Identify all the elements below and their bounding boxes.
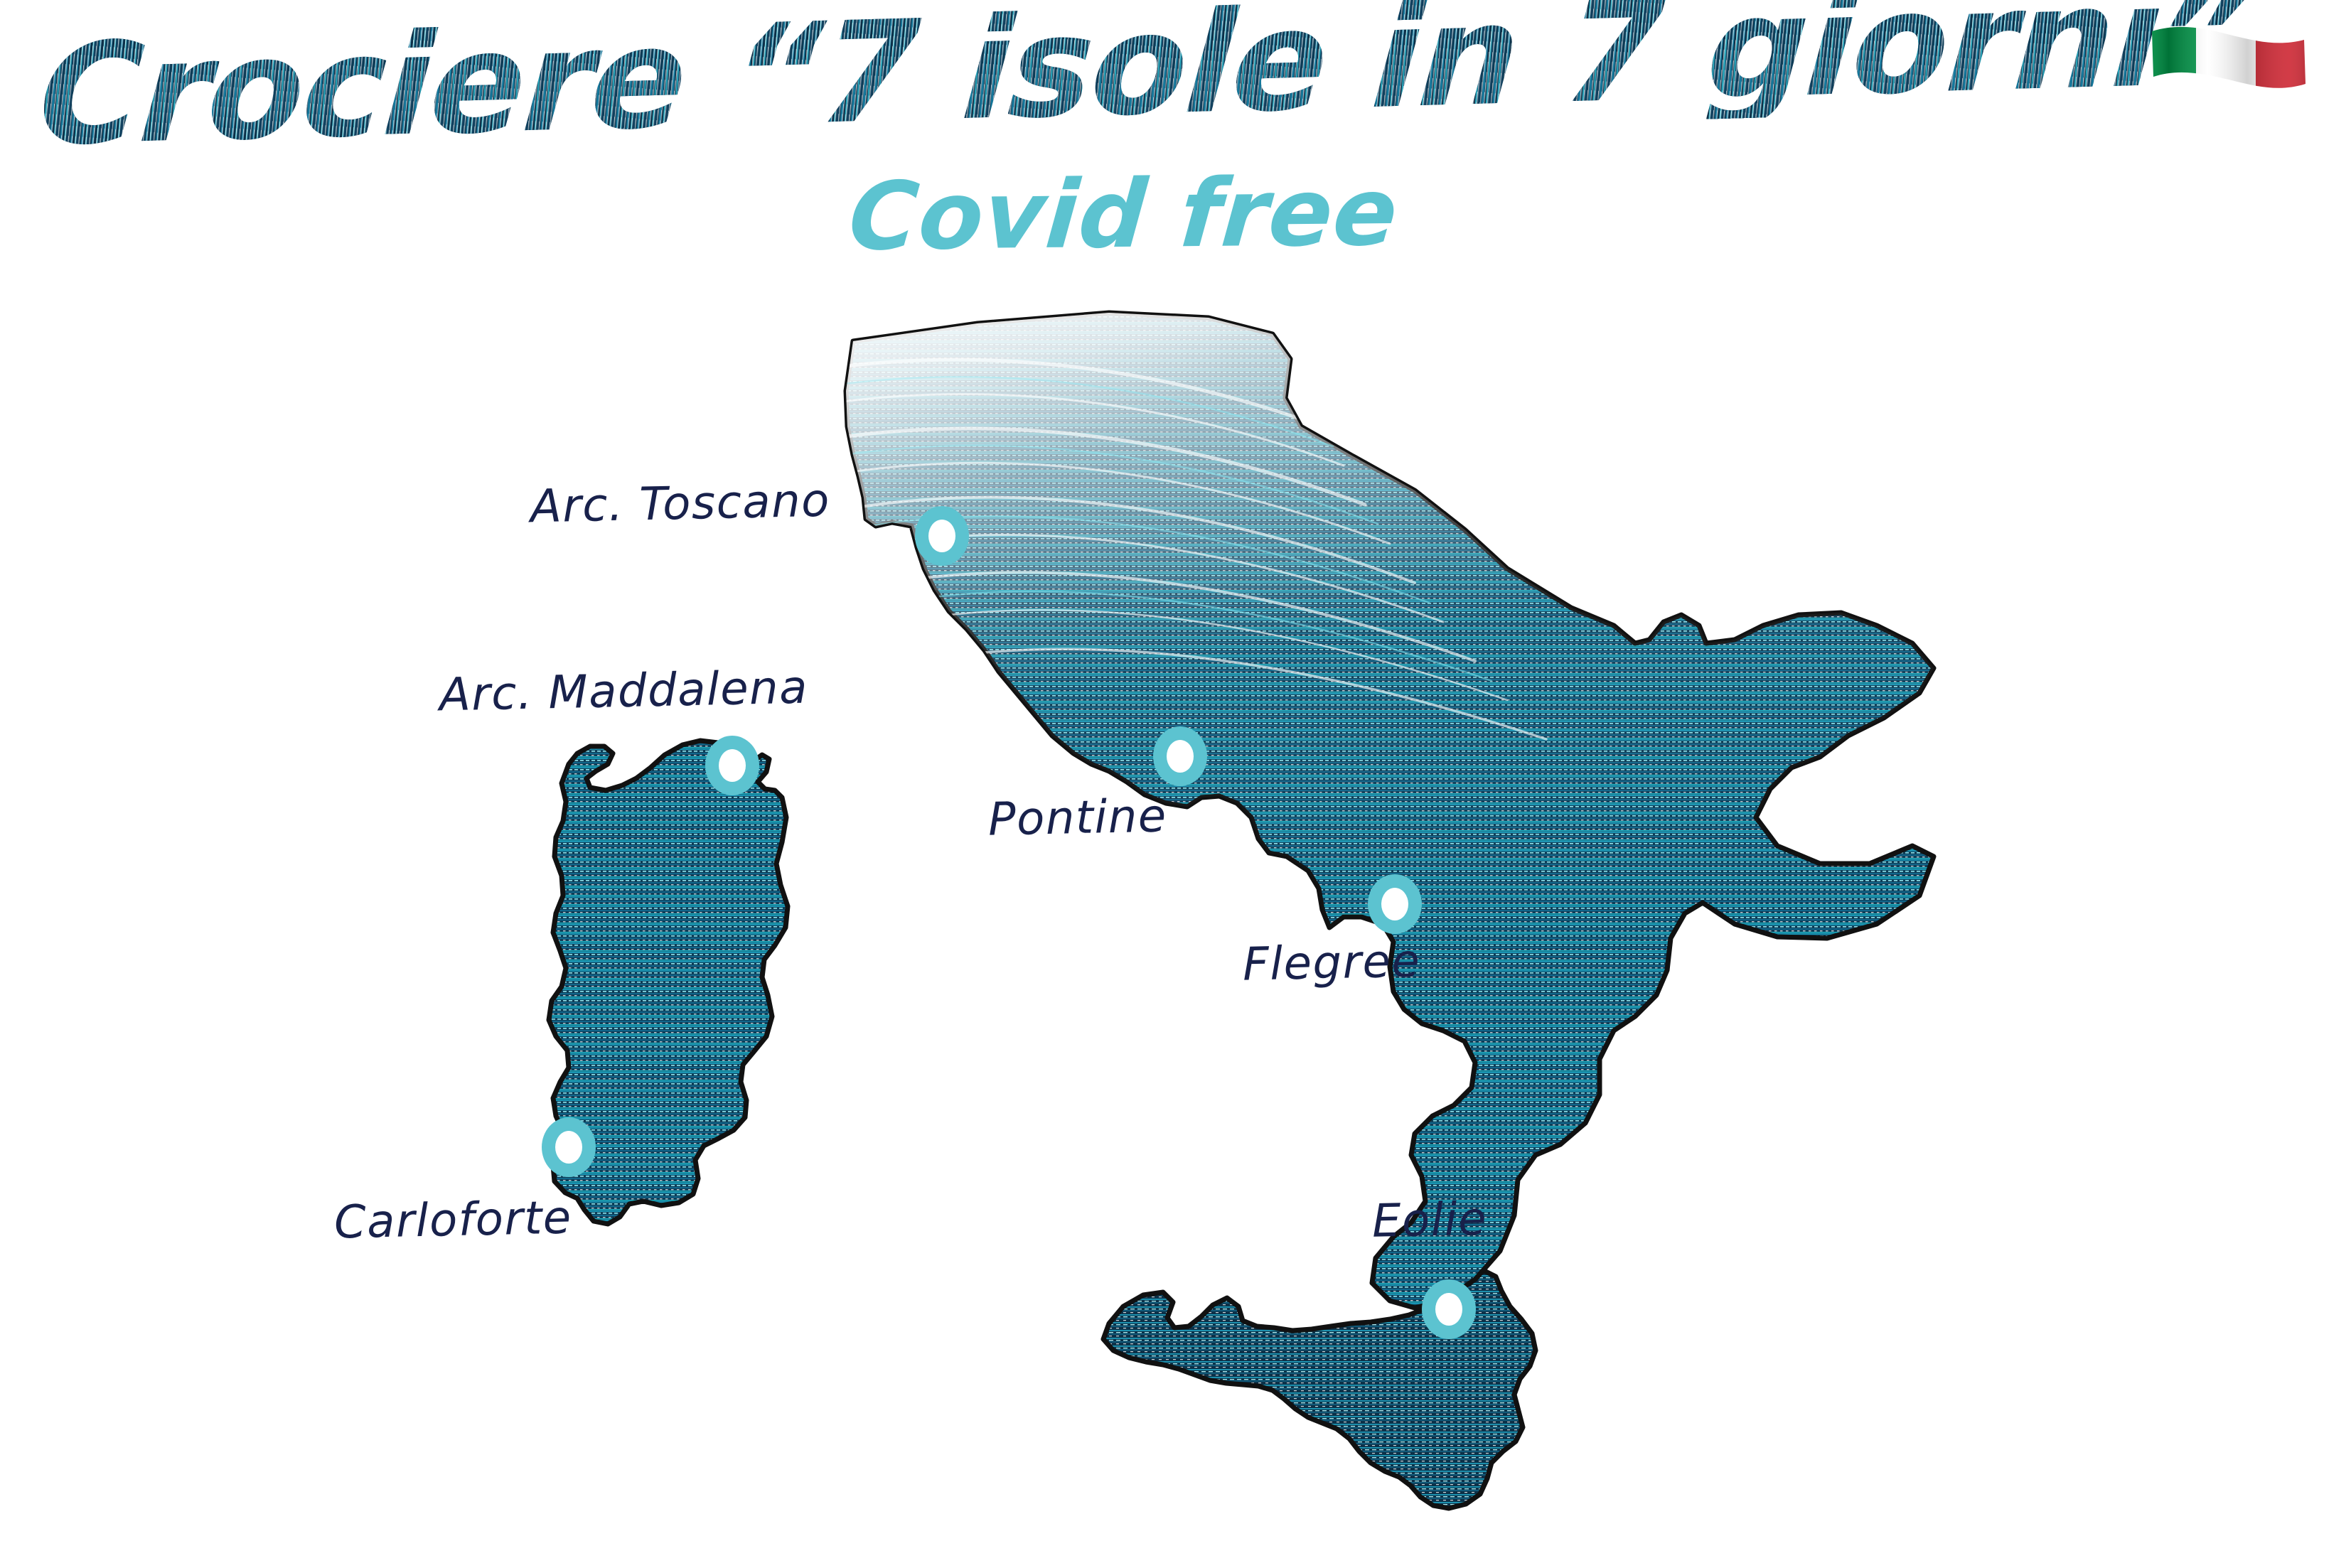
marker-hole	[555, 1131, 582, 1164]
map-marker-eolie[interactable]	[1422, 1279, 1476, 1339]
map-marker-flegree[interactable]	[1368, 874, 1422, 934]
map-label-pontine: Pontine	[987, 790, 1167, 846]
map-label-arc-toscano: Arc. Toscano	[530, 475, 830, 534]
map-label-flegree: Flegree	[1242, 935, 1421, 991]
marker-hole	[1381, 888, 1408, 920]
marker-hole	[1167, 740, 1194, 773]
poster-canvas: Crociere “7 isole in 7 giorni” Covid fre…	[0, 0, 2351, 1568]
map-label-eolie: Eolie	[1371, 1193, 1488, 1247]
map-region-mainland	[782, 284, 1991, 1308]
marker-hole	[1435, 1293, 1462, 1326]
map-marker-arc-toscano[interactable]	[915, 506, 969, 566]
map-label-arc-maddalena: Arc. Maddalena	[439, 662, 808, 722]
map-marker-arc-maddalena[interactable]	[705, 736, 759, 795]
marker-hole	[928, 520, 955, 552]
map-label-carloforte: Carloforte	[333, 1192, 572, 1250]
map-marker-carloforte[interactable]	[542, 1117, 596, 1177]
marker-hole	[719, 749, 746, 782]
map-marker-pontine[interactable]	[1153, 726, 1207, 786]
